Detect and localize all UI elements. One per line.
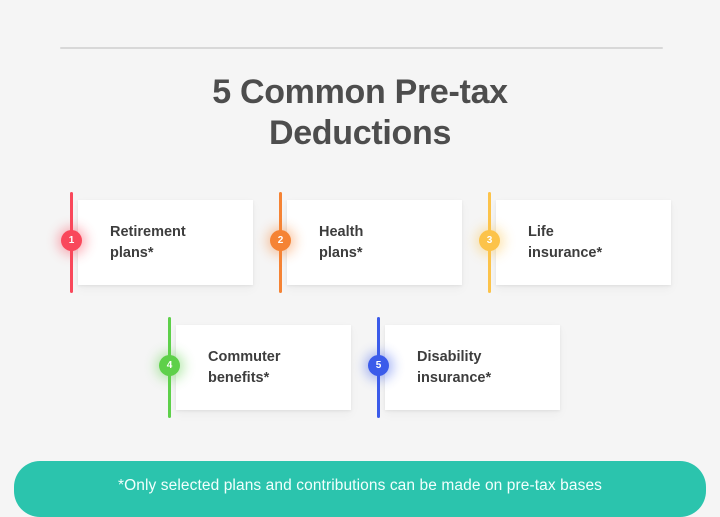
card-commuter-benefits[interactable]: 4 Commuter benefits* — [168, 325, 351, 410]
top-divider — [60, 47, 663, 49]
infographic-root: 5 Common Pre-tax Deductions 1 Retirement… — [0, 0, 720, 503]
number-badge: 4 — [159, 355, 180, 376]
number-badge: 1 — [61, 230, 82, 251]
number-badge: 2 — [270, 230, 291, 251]
number-badge: 3 — [479, 230, 500, 251]
card-label: Retirement plans* — [110, 200, 240, 285]
card-label: Commuter benefits* — [208, 325, 338, 410]
card-label: Life insurance* — [528, 200, 658, 285]
card-row-second: 4 Commuter benefits* 5 Disability insura… — [168, 325, 560, 410]
card-row-first: 1 Retirement plans* 2 Health plans* 3 Li… — [70, 200, 671, 285]
card-label: Disability insurance* — [417, 325, 547, 410]
card-disability-insurance[interactable]: 5 Disability insurance* — [377, 325, 560, 410]
number-badge: 5 — [368, 355, 389, 376]
card-health-plans[interactable]: 2 Health plans* — [279, 200, 462, 285]
footnote-text: *Only selected plans and contributions c… — [118, 477, 602, 495]
card-label: Health plans* — [319, 200, 449, 285]
card-retirement-plans[interactable]: 1 Retirement plans* — [70, 200, 253, 285]
page-title: 5 Common Pre-tax Deductions — [0, 72, 720, 155]
card-life-insurance[interactable]: 3 Life insurance* — [488, 200, 671, 285]
footnote-banner: *Only selected plans and contributions c… — [14, 461, 706, 517]
